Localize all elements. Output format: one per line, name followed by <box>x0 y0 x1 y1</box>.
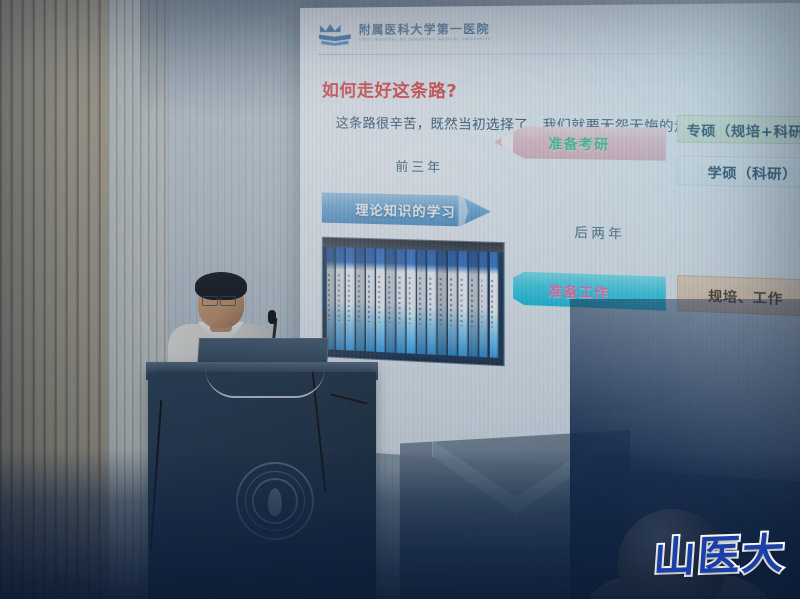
hospital-name-en: FIRST HOSPITAL OF SHANDONG MEDICAL UNIVE… <box>359 38 491 42</box>
presenter-glasses-bridge <box>216 299 221 300</box>
book-spine <box>356 248 365 351</box>
microphone-head <box>268 310 276 324</box>
book-spine <box>427 250 436 354</box>
book-spine <box>448 251 457 356</box>
watermark: 山医大 <box>652 520 789 586</box>
book-spine <box>366 249 375 352</box>
book-spine <box>386 249 395 352</box>
book-spine <box>376 249 385 352</box>
hospital-logo: 附属医科大学第一医院 FIRST HOSPITAL OF SHANDONG ME… <box>318 20 491 45</box>
chevron-exam-label: 准备考研 <box>548 133 609 154</box>
book-spine <box>346 248 355 351</box>
book-spine <box>417 250 426 354</box>
book-spine <box>397 249 406 353</box>
phase-label-second: 后两年 <box>574 221 625 242</box>
book-spine <box>407 250 416 354</box>
slide-title: 如何走好这条路? <box>322 76 457 102</box>
chevron-theory-label: 理论知识的学习 <box>355 199 455 221</box>
book-spine <box>489 252 498 357</box>
outcome-professional-master: 专硕（规培+科研） <box>677 115 800 145</box>
presenter-glasses-right <box>220 296 236 306</box>
outcome-academic-master: 学硕（科研） <box>677 155 800 188</box>
book-spine <box>336 248 345 351</box>
chevron-accent-bar <box>458 195 468 226</box>
book-spine <box>479 252 488 357</box>
white-charging-cable <box>205 368 325 398</box>
book-spine <box>326 247 335 349</box>
book-spine <box>458 251 467 356</box>
presentation-photo-scene: 附属医科大学第一医院 FIRST HOSPITAL OF SHANDONG ME… <box>0 0 800 599</box>
header-divider <box>318 53 800 55</box>
presenter-glasses-left <box>202 296 218 306</box>
book-spine <box>437 251 446 355</box>
medical-textbooks-photo <box>322 237 505 367</box>
hospital-logo-text: 附属医科大学第一医院 FIRST HOSPITAL OF SHANDONG ME… <box>359 24 491 43</box>
book-spine <box>468 252 477 357</box>
mountain-book-logo-icon <box>318 22 352 46</box>
chevron-theory-study: 理论知识的学习 <box>322 192 491 227</box>
hospital-name-cn: 附属医科大学第一医院 <box>359 24 491 37</box>
chevron-exam-prep: 准备考研 <box>494 126 666 161</box>
phase-label-first: 前三年 <box>395 155 443 175</box>
